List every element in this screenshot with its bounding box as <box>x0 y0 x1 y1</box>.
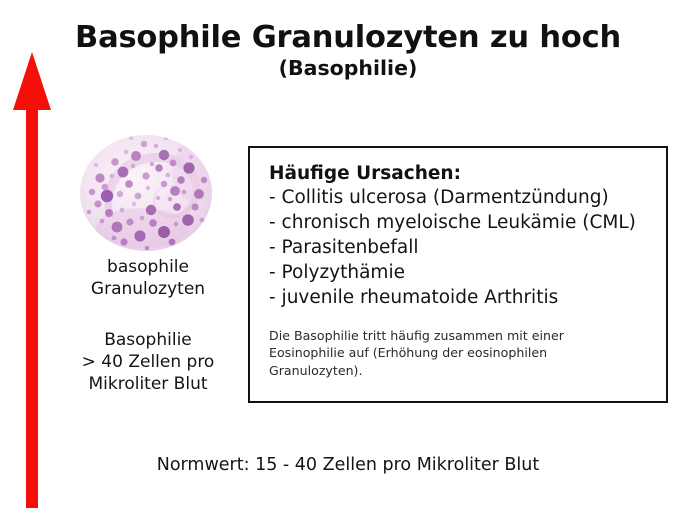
common-causes-content: Häufige Ursachen: - Collitis ulcerosa (D… <box>250 148 666 380</box>
cause-item: - Collitis ulcerosa (Darmentzündung) <box>269 186 666 211</box>
causes-list: - Collitis ulcerosa (Darmentzündung) - c… <box>269 186 666 310</box>
common-causes-box: Häufige Ursachen: - Collitis ulcerosa (D… <box>248 146 668 403</box>
cell-label-line1: basophile <box>38 257 258 279</box>
page-subtitle: (Basophilie) <box>0 57 696 81</box>
cell-label: basophile Granulozyten <box>38 257 258 301</box>
causes-note: Die Basophilie tritt häufig zusammen mit… <box>269 327 609 381</box>
condition-label: Basophilie > 40 Zellen pro Mikroliter Bl… <box>38 330 258 395</box>
cause-item: - chronisch myeloische Leukämie (CML) <box>269 211 666 236</box>
page-title: Basophile Granulozyten zu hoch <box>0 22 696 55</box>
condition-name: Basophilie <box>38 330 258 352</box>
causes-heading: Häufige Ursachen: <box>269 162 666 185</box>
title-block: Basophile Granulozyten zu hoch (Basophil… <box>0 22 696 81</box>
basophil-granulocyte-illustration <box>76 132 216 254</box>
cause-item: - Polyzythämie <box>269 261 666 286</box>
cause-item: - juvenile rheumatoide Arthritis <box>269 286 666 311</box>
condition-threshold: > 40 Zellen pro <box>38 352 258 374</box>
condition-unit: Mikroliter Blut <box>38 374 258 396</box>
cell-label-line2: Granulozyten <box>38 279 258 301</box>
cause-item: - Parasitenbefall <box>269 236 666 261</box>
normal-value-text: Normwert: 15 - 40 Zellen pro Mikroliter … <box>0 455 696 476</box>
